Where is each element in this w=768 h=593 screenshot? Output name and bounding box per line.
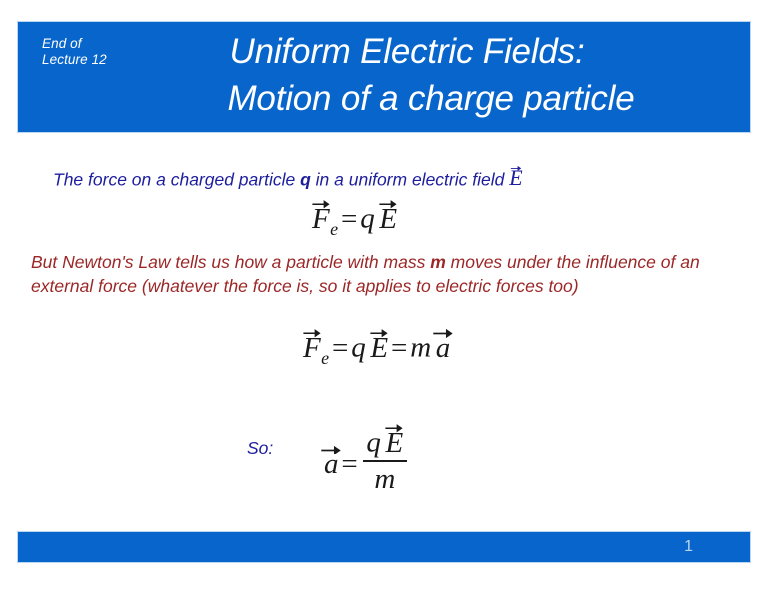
equation-3-numerator-field-symbol: E [386,429,404,458]
statement-2-text-before-m: But Newton's Law tells us how a particle… [31,252,430,272]
equation-2-equals-sign-2: = [391,332,407,364]
equation-1-force-subscript: e [330,219,338,240]
equation-force-equals-qe: Fe=qE [312,196,397,240]
equation-2-charge-symbol: q [351,332,366,364]
equation-2-equals-sign-1: = [332,332,348,364]
statement-1-text-before-q: The force on a charged particle [53,169,300,189]
statement-force-on-charge: The force on a charged particle q in a u… [53,163,523,191]
equation-3-denominator: m [363,463,407,495]
page-title: Uniform Electric Fields: Motion of a cha… [92,28,722,122]
so-label: So: [247,438,273,459]
equation-2-vector-f: F [303,325,321,363]
equation-2-accel-symbol: a [436,334,451,363]
equation-3-equals-sign: = [341,448,357,480]
page-title-line-2: Motion of a charge particle [92,75,722,122]
equation-acceleration-equals-qe-over-m: a= qE m [324,420,407,495]
statement-1-vector-e-glyph: E [509,168,522,190]
equation-1-equals-sign: = [341,203,357,235]
equation-1-vector-f: F [312,196,330,234]
equation-1-vector-e: E [379,196,397,234]
page-title-line-1: Uniform Electric Fields: [230,32,585,71]
equation-1-force-symbol: F [312,205,330,234]
equation-3-vector-a: a [324,442,339,480]
slide-canvas: End of Lecture 12 Uniform Electric Field… [0,0,768,593]
equation-2-vector-e: E [370,325,388,363]
equation-force-equals-qe-equals-ma: Fe=qE=ma [303,325,450,369]
equation-2-force-symbol: F [303,334,321,363]
equation-3-numerator: qE [363,420,407,459]
page-number: 1 [684,538,693,556]
slide-footer-banner: 1 [17,531,751,563]
statement-1-text-after-q: in a uniform electric field [311,169,509,189]
equation-2-mass-symbol: m [410,332,431,364]
statement-1-vector-e: E [509,163,522,190]
statement-1-symbol-q: q [300,169,311,189]
statement-newtons-law: But Newton's Law tells us how a particle… [31,250,709,298]
equation-3-fraction-bar [363,460,407,462]
statement-2-symbol-m: m [430,252,446,272]
equation-2-force-subscript: e [321,348,329,369]
equation-3-accel-symbol: a [324,450,339,479]
equation-3-numerator-charge: q [366,427,381,459]
equation-3-fraction: qE m [363,420,407,495]
equation-1-charge-symbol: q [360,203,375,235]
equation-3-numerator-vector-e: E [386,420,404,458]
equation-2-field-symbol: E [370,334,388,363]
slide-header-banner: End of Lecture 12 Uniform Electric Field… [17,21,751,133]
equation-1-field-symbol: E [379,205,397,234]
equation-2-vector-a: a [436,325,451,363]
